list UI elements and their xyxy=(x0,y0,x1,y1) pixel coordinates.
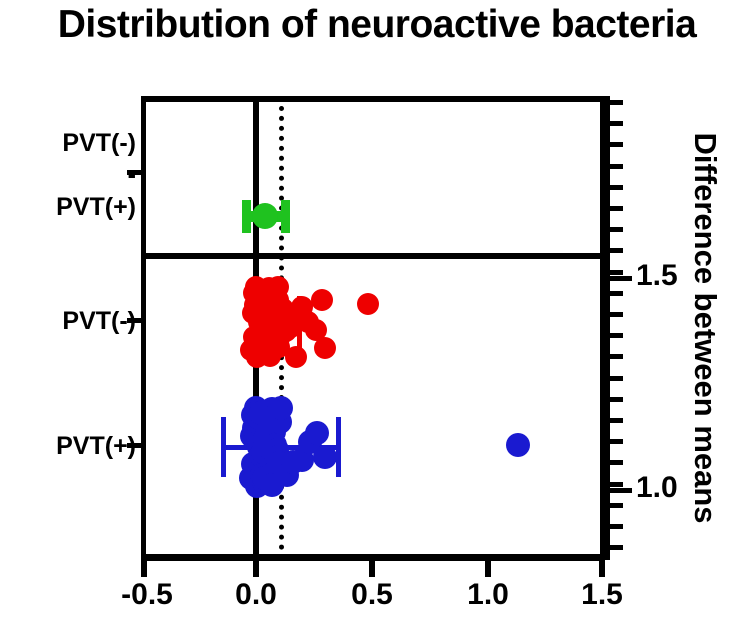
y-tick-pvt-negative xyxy=(127,318,141,323)
x-tick-1 xyxy=(253,560,259,577)
right-tick-minor xyxy=(610,482,623,487)
y-tick-difference xyxy=(127,170,141,175)
panel-label-difference-line3: PVT(+) xyxy=(0,193,136,222)
right-tick-minor xyxy=(610,545,623,550)
right-tick-minor xyxy=(610,418,623,423)
plot-frame xyxy=(141,96,605,560)
x-tick-label-0: -0.5 xyxy=(97,578,197,612)
right-tick-major-1 xyxy=(610,276,632,281)
right-tick-minor xyxy=(610,227,623,232)
right-tick-label-1: 1.5 xyxy=(636,259,678,293)
panel-label-difference-line1: PVT(-) xyxy=(0,129,136,158)
right-tick-major-2 xyxy=(610,488,632,493)
x-tick-3 xyxy=(485,560,491,577)
x-tick-label-2: 0.5 xyxy=(322,578,422,612)
dotted-reference-line xyxy=(279,96,284,560)
right-tick-minor xyxy=(610,503,623,508)
right-tick-minor xyxy=(610,439,623,444)
category-label-pvt-negative: PVT(-) xyxy=(0,307,136,336)
category-label-pvt-positive: PVT(+) xyxy=(0,432,136,461)
right-axis-title: Difference between means xyxy=(676,96,734,560)
x-tick-4 xyxy=(599,560,605,577)
zero-reference-line xyxy=(253,96,259,560)
right-tick-minor xyxy=(610,164,623,169)
right-tick-minor xyxy=(610,524,623,529)
right-tick-minor xyxy=(610,270,623,275)
x-tick-label-1: 0.0 xyxy=(206,578,306,612)
right-tick-minor xyxy=(610,312,623,317)
right-tick-minor xyxy=(610,397,623,402)
chart-title: Distribution of neuroactive bacteria xyxy=(0,0,754,52)
x-tick-label-4: 1.5 xyxy=(552,578,652,612)
x-tick-label-3: 1.0 xyxy=(438,578,538,612)
x-tick-2 xyxy=(369,560,375,577)
right-tick-minor xyxy=(610,460,623,465)
right-tick-minor xyxy=(610,206,623,211)
right-tick-minor xyxy=(610,100,623,105)
right-tick-minor xyxy=(610,376,623,381)
right-tick-minor xyxy=(610,354,623,359)
panel-divider xyxy=(141,253,605,259)
right-tick-minor xyxy=(610,142,623,147)
right-tick-minor xyxy=(610,291,623,296)
y-tick-pvt-positive xyxy=(127,443,141,448)
x-tick-0 xyxy=(141,560,147,577)
right-tick-minor xyxy=(610,248,623,253)
chart-root: Distribution of neuroactive bacteria PVT… xyxy=(0,0,754,624)
right-tick-label-2: 1.0 xyxy=(636,471,678,505)
panel-label-difference-line2: - xyxy=(0,161,136,190)
right-tick-minor xyxy=(610,333,623,338)
right-tick-minor xyxy=(610,121,623,126)
right-tick-minor xyxy=(610,185,623,190)
